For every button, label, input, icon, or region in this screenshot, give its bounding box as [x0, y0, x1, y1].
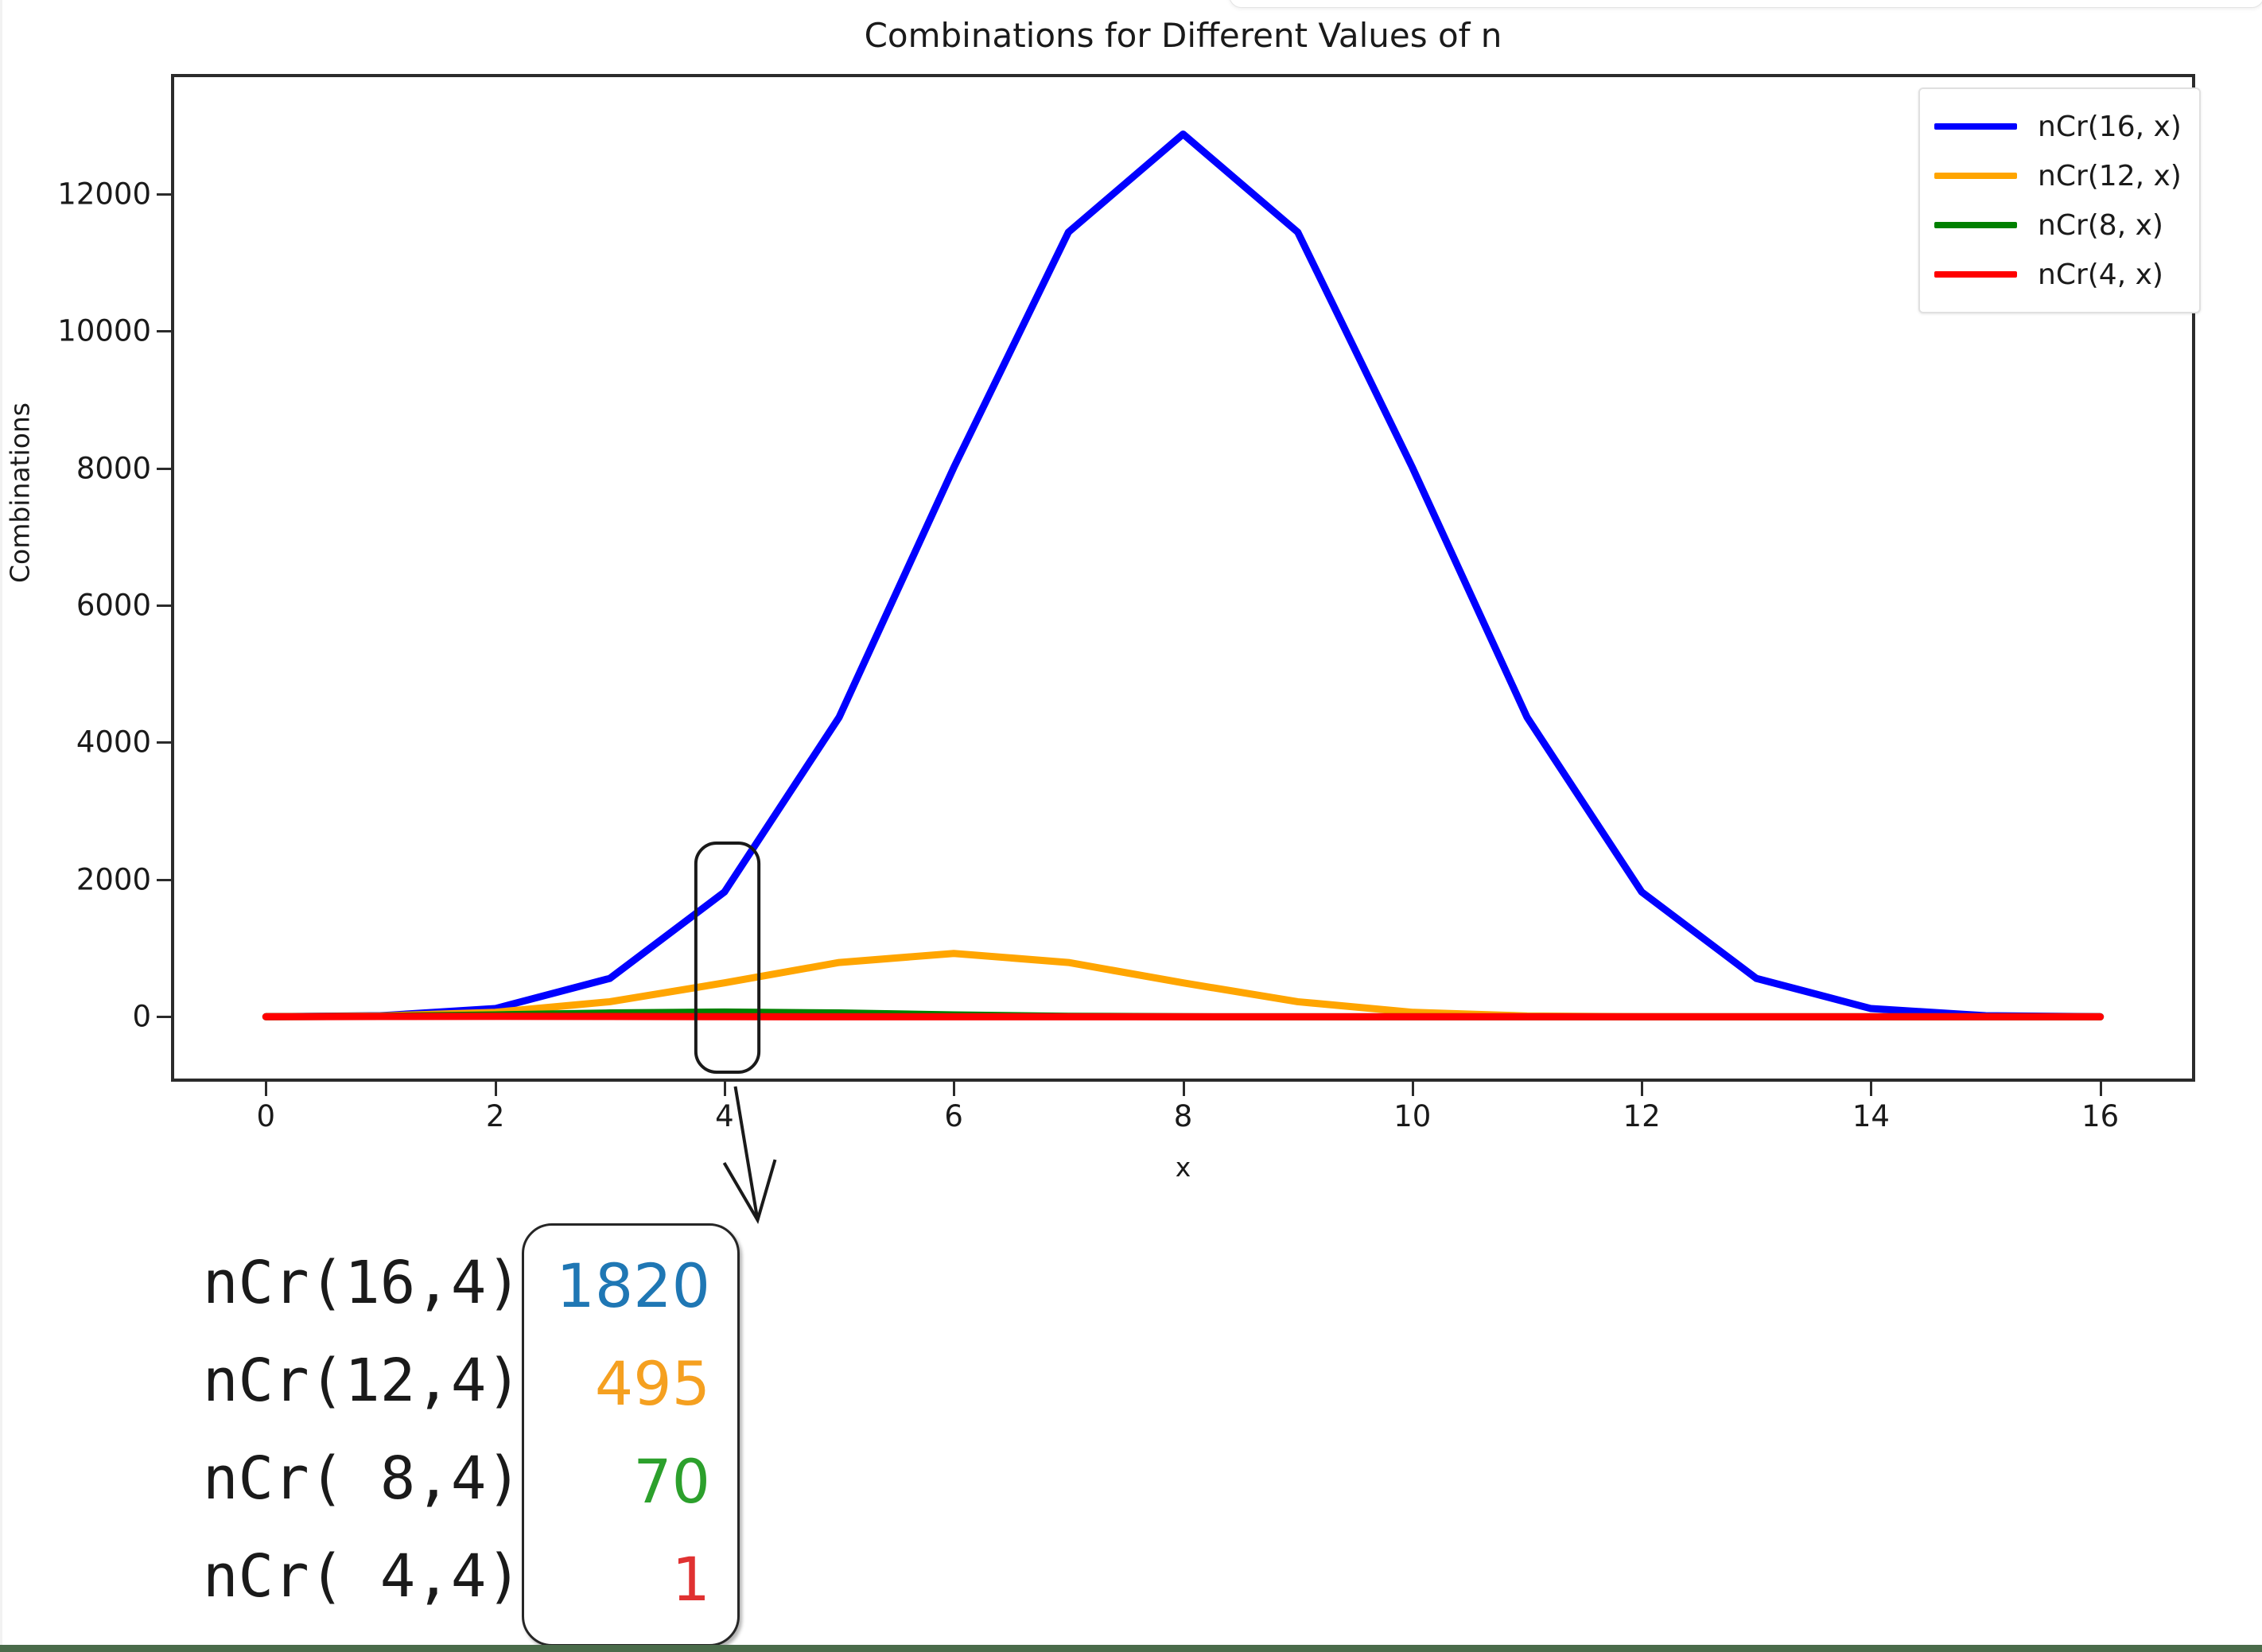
legend-color-swatch — [1934, 271, 2017, 278]
x-tick-label: 0 — [186, 1099, 345, 1133]
bottom-status-bar — [0, 1645, 2262, 1652]
legend-label: nCr(8, x) — [2038, 209, 2163, 242]
y-tick-mark — [157, 468, 171, 470]
matplotlib-figure: Combinations for Different Values of n C… — [0, 0, 2262, 1645]
annotation-values-box: 1820495701 — [522, 1223, 740, 1646]
y-tick-mark — [157, 1016, 171, 1018]
legend-item[interactable]: nCr(4, x) — [1934, 250, 2182, 299]
x-tick-mark — [724, 1082, 726, 1096]
x-tick-mark — [495, 1082, 497, 1096]
y-axis-label: Combinations — [5, 294, 36, 692]
annotation-readout: nCr(16,4) nCr(12,4) nCr( 8,4) nCr( 4,4) … — [203, 1223, 740, 1646]
annotation-value: 1 — [551, 1530, 710, 1628]
x-tick-label: 4 — [645, 1099, 804, 1133]
x-tick-mark — [2100, 1082, 2102, 1096]
y-tick-label: 4000 — [0, 725, 151, 760]
x-tick-mark — [953, 1082, 955, 1096]
legend-label: nCr(16, x) — [2038, 111, 2182, 143]
y-tick-mark — [157, 741, 171, 744]
x-tick-mark — [1870, 1082, 1872, 1096]
legend-item[interactable]: nCr(16, x) — [1934, 102, 2182, 151]
y-tick-label: 8000 — [0, 451, 151, 485]
y-tick-label: 0 — [0, 1000, 151, 1034]
legend-color-swatch — [1934, 173, 2017, 179]
legend-color-swatch — [1934, 123, 2017, 130]
annotation-value: 1820 — [551, 1237, 710, 1335]
x-tick-mark — [1641, 1082, 1643, 1096]
series-line-1 — [266, 954, 2100, 1017]
annotation-value: 70 — [551, 1432, 710, 1530]
x-tick-mark — [265, 1082, 267, 1096]
chart-title: Combinations for Different Values of n — [171, 16, 2195, 55]
plot-area — [171, 74, 2195, 1082]
x-tick-mark — [1183, 1082, 1185, 1096]
legend-color-swatch — [1934, 222, 2017, 228]
y-tick-label: 2000 — [0, 862, 151, 896]
y-tick-label: 10000 — [0, 314, 151, 348]
x-tick-label: 16 — [2021, 1099, 2180, 1133]
y-tick-mark — [157, 604, 171, 607]
chart-legend: nCr(16, x)nCr(12, x)nCr(8, x)nCr(4, x) — [1918, 87, 2201, 313]
annotation-value: 495 — [551, 1335, 710, 1432]
y-tick-mark — [157, 193, 171, 196]
x-tick-label: 6 — [874, 1099, 1033, 1133]
annotation-labels: nCr(16,4) nCr(12,4) nCr( 8,4) nCr( 4,4) — [203, 1223, 522, 1646]
legend-item[interactable]: nCr(12, x) — [1934, 151, 2182, 200]
y-tick-label: 6000 — [0, 588, 151, 622]
x-tick-label: 14 — [1791, 1099, 1950, 1133]
legend-item[interactable]: nCr(8, x) — [1934, 200, 2182, 250]
x-tick-mark — [1412, 1082, 1414, 1096]
series-line-0 — [266, 134, 2100, 1017]
x-axis-label: x — [171, 1152, 2195, 1183]
legend-label: nCr(12, x) — [2038, 160, 2182, 192]
y-tick-label: 12000 — [0, 177, 151, 211]
x-tick-label: 2 — [416, 1099, 575, 1133]
y-tick-mark — [157, 330, 171, 332]
legend-label: nCr(4, x) — [2038, 258, 2163, 291]
x-tick-label: 12 — [1562, 1099, 1721, 1133]
y-tick-mark — [157, 879, 171, 881]
series-line-3 — [266, 1016, 2100, 1017]
plot-lines-svg — [174, 77, 2192, 1079]
x-tick-label: 10 — [1333, 1099, 1492, 1133]
x-tick-label: 8 — [1104, 1099, 1263, 1133]
